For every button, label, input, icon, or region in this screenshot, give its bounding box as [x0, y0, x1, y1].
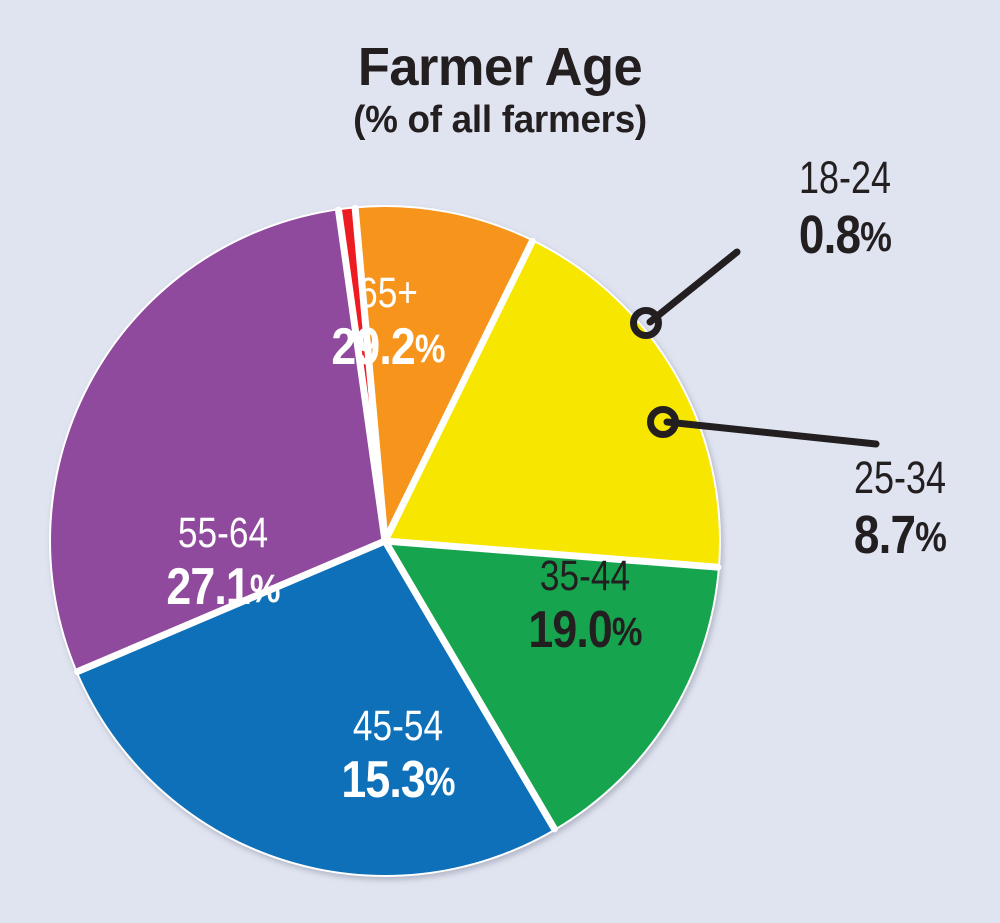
- callout-leaders: [634, 252, 877, 444]
- leader-18-24: [634, 252, 738, 336]
- chart-canvas: Farmer Age (% of all farmers): [0, 0, 1000, 923]
- pie-chart: [0, 0, 1000, 923]
